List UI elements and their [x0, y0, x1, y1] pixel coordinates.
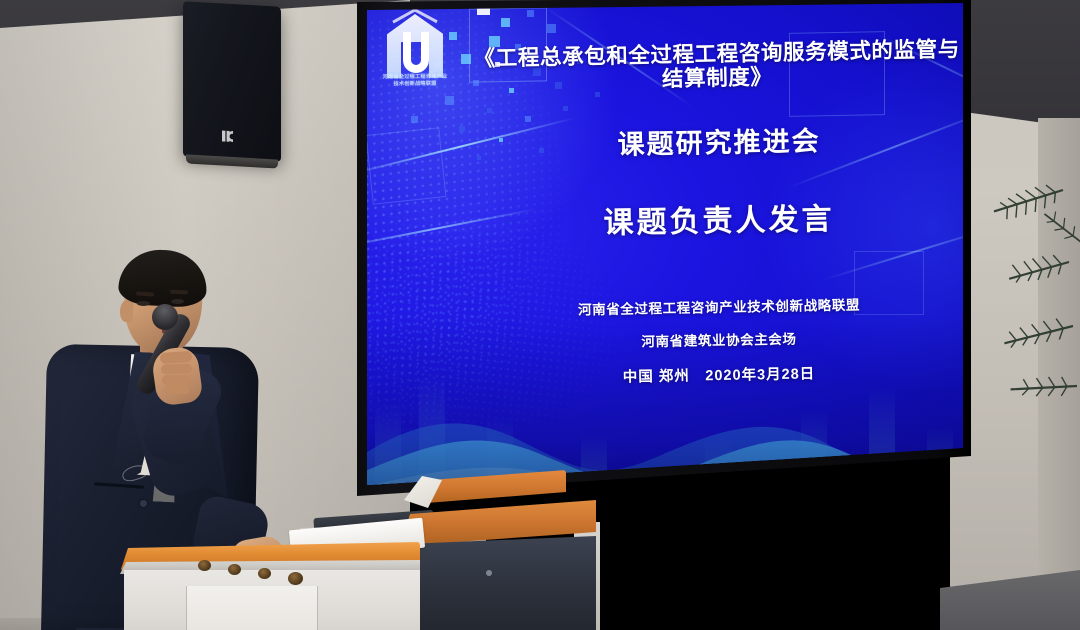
slide-organizer: 河南省全过程工程咨询产业技术创新战略联盟 — [489, 292, 949, 320]
jacket-button — [140, 500, 147, 507]
lectern-front-panel — [186, 586, 318, 630]
potted-palm — [985, 150, 1080, 480]
conference-photo: 河南省全过程工程咨询产业 技术创新战略联盟 《工程总承包和全过程工程咨询服务模式… — [0, 0, 1080, 630]
palm-fronds-icon — [985, 150, 1080, 480]
lectern-hole — [228, 564, 241, 575]
slide-title-main: 《工程总承包和全过程工程咨询服务模式的监管与结算制度》 — [469, 37, 966, 95]
slide-venue: 河南省建筑业协会主会场 — [489, 325, 949, 353]
slide-title-topic: 课题负责人发言 — [499, 192, 940, 244]
ear — [119, 300, 134, 323]
lectern-hole — [258, 568, 271, 579]
second-podium — [400, 470, 600, 630]
hair — [118, 248, 209, 309]
eye-left — [137, 301, 150, 306]
slide-title-sub: 课题研究推进会 — [499, 117, 940, 164]
finger — [162, 375, 191, 386]
second-podium-latch — [486, 570, 492, 576]
lectern-hole — [288, 572, 303, 585]
logo-caption: 河南省全过程工程咨询产业 技术创新战略联盟 — [363, 73, 467, 88]
led-screen: 河南省全过程工程咨询产业 技术创新战略联盟 《工程总承包和全过程工程咨询服务模式… — [349, 0, 971, 496]
second-podium-body — [400, 536, 596, 630]
lectern-hole — [198, 560, 211, 571]
logo-caption-line2: 技术创新战略联盟 — [363, 80, 467, 88]
wall-speaker — [183, 1, 281, 161]
finger — [160, 351, 193, 364]
finger — [164, 384, 189, 394]
lectern — [120, 520, 420, 630]
slide-content: 河南省全过程工程咨询产业 技术创新战略联盟 《工程总承包和全过程工程咨询服务模式… — [349, 0, 971, 496]
slide-date: 中国 郑州 2020年3月28日 — [489, 360, 949, 389]
eyebrow-right — [170, 290, 188, 295]
finger — [161, 363, 192, 374]
speaker-brand-icon — [222, 130, 242, 142]
eye-right — [171, 299, 184, 304]
